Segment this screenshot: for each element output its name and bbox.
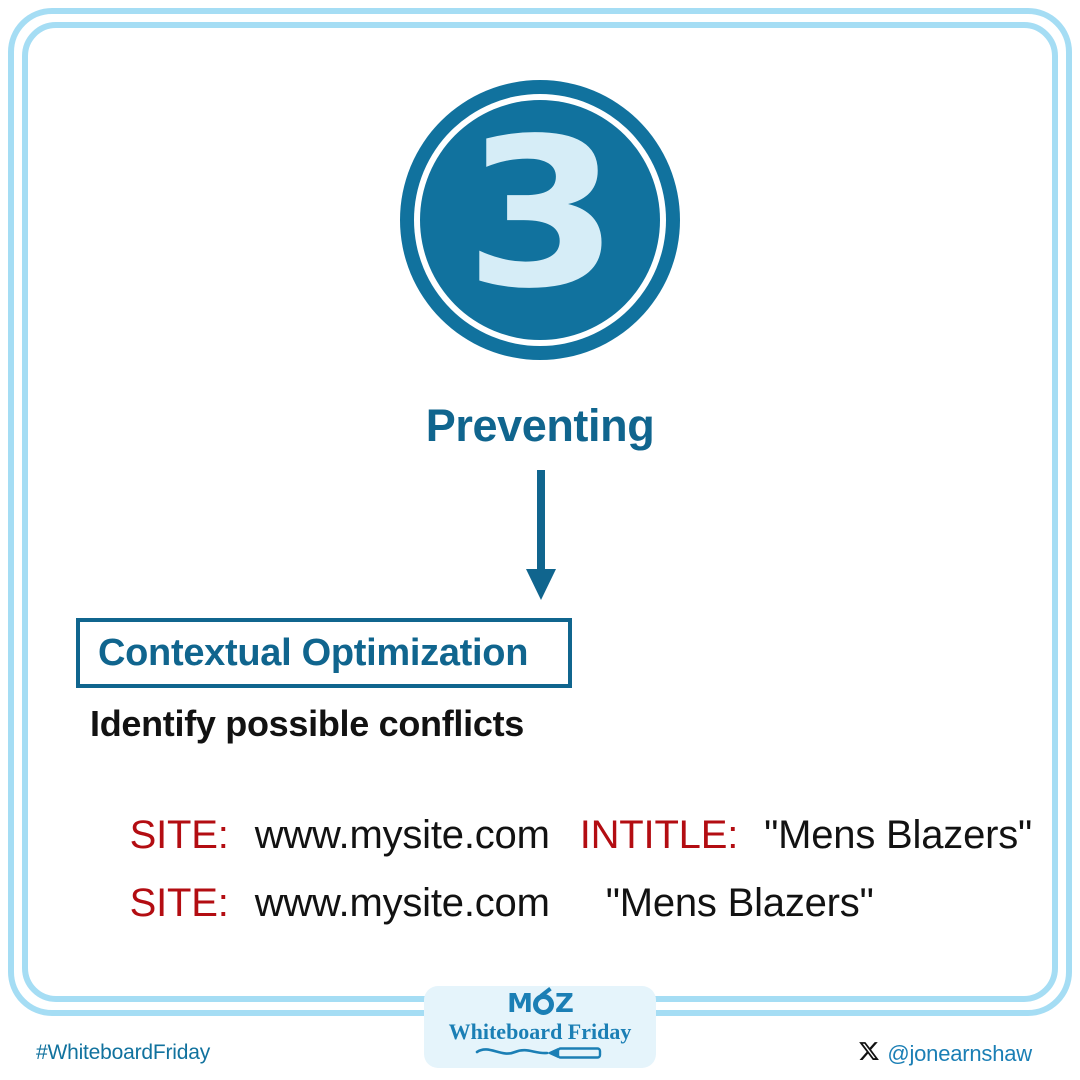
section-subhead: Identify possible conflicts [90,703,524,745]
moz-whiteboard-friday-badge: M Z Whiteboard Friday [424,986,656,1068]
down-arrow-icon [525,470,557,602]
moz-wordmark-prefix: M [507,991,532,1017]
site-value: www.mysite.com [255,881,550,925]
technique-label-text: Contextual Optimization [80,632,528,675]
moz-tagline: Whiteboard Friday [449,1021,632,1043]
step-number-badge: 3 [400,80,680,360]
technique-label-box: Contextual Optimization [76,618,572,688]
page-title: Preventing [0,400,1080,452]
badge-number-label: 3 [465,111,615,317]
social-handle[interactable]: @jonearnshaw [858,1040,1032,1067]
x-twitter-icon [858,1040,880,1067]
phrase-value: "Mens Blazers" [606,881,874,925]
hashtag-label: #WhiteboardFriday [36,1041,210,1065]
handle-text: @jonearnshaw [887,1041,1032,1067]
query-row: SITE:www.mysite.com"Mens Blazers" [86,836,874,971]
marker-squiggle-icon [475,1046,605,1064]
moz-wordmark: M Z [507,991,573,1017]
whiteboard-slide: 3 Preventing Contextual Optimization Ide… [0,0,1080,1080]
site-operator: SITE: [130,881,229,925]
moz-wordmark-suffix: Z [555,991,573,1017]
badge-core: 3 [420,100,660,340]
moz-o-icon [533,994,554,1015]
